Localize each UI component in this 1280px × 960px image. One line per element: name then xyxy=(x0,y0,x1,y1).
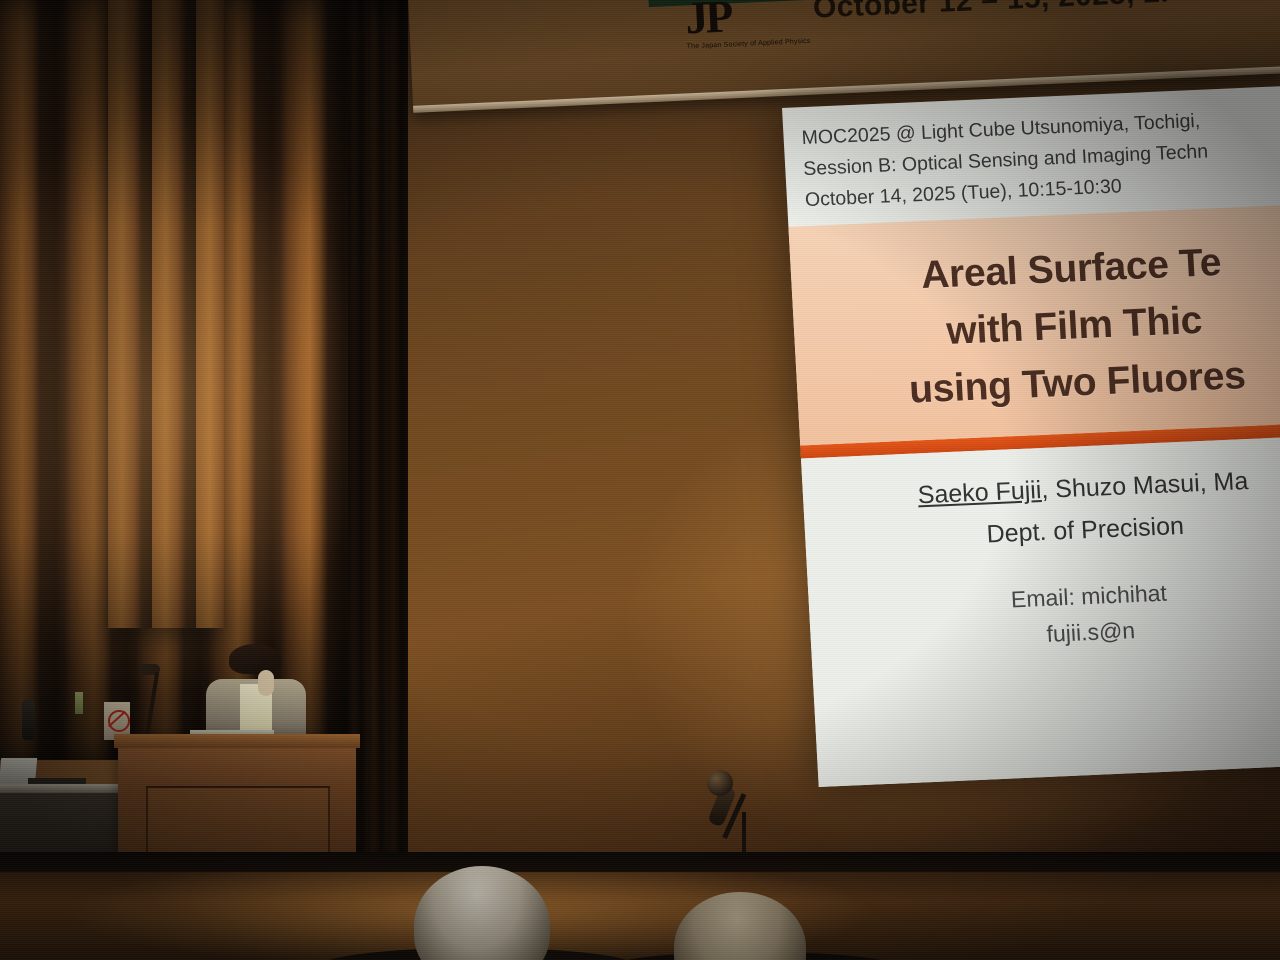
slide-body: Saeko Fujii, Shuzo Masui, Ma Dept. of Pr… xyxy=(801,434,1280,787)
presenting-author: Saeko Fujii xyxy=(917,476,1042,509)
podium-top-surface xyxy=(114,734,360,748)
presenter-handheld-microphone xyxy=(258,670,274,696)
projected-slide: MOC2025 @ Light Cube Utsunomiya, Tochigi… xyxy=(782,84,1280,787)
presenter-hair xyxy=(229,644,281,674)
slat-wall-panel xyxy=(108,0,224,628)
slide-email-block: Email: michihat fujii.s@n xyxy=(808,566,1280,662)
slide-title-band: Areal Surface Te with Film Thic using Tw… xyxy=(788,202,1280,445)
coauthors: , Shuzo Masui, Ma xyxy=(1041,467,1249,504)
floor-microphone-head xyxy=(707,770,733,796)
slide-header: MOC2025 @ Light Cube Utsunomiya, Tochigi… xyxy=(782,84,1280,227)
stage-curtain xyxy=(348,0,408,880)
jsap-logo-mark: JP xyxy=(684,0,782,41)
banner-date-text: October 12 – 15, 2025, 2. xyxy=(812,0,1169,26)
jsap-logo-icon: JP The Japan Society of Applied Physics xyxy=(684,0,783,71)
stage-floor xyxy=(0,872,1280,960)
conference-presentation-photo: The 3 JP The Japan Society of Applied Ph… xyxy=(0,0,1280,960)
wooden-slat-wall xyxy=(0,0,348,760)
wall-telephone xyxy=(22,700,35,740)
slide-surface: MOC2025 @ Light Cube Utsunomiya, Tochigi… xyxy=(782,84,1280,787)
exit-light-strip xyxy=(75,692,83,714)
